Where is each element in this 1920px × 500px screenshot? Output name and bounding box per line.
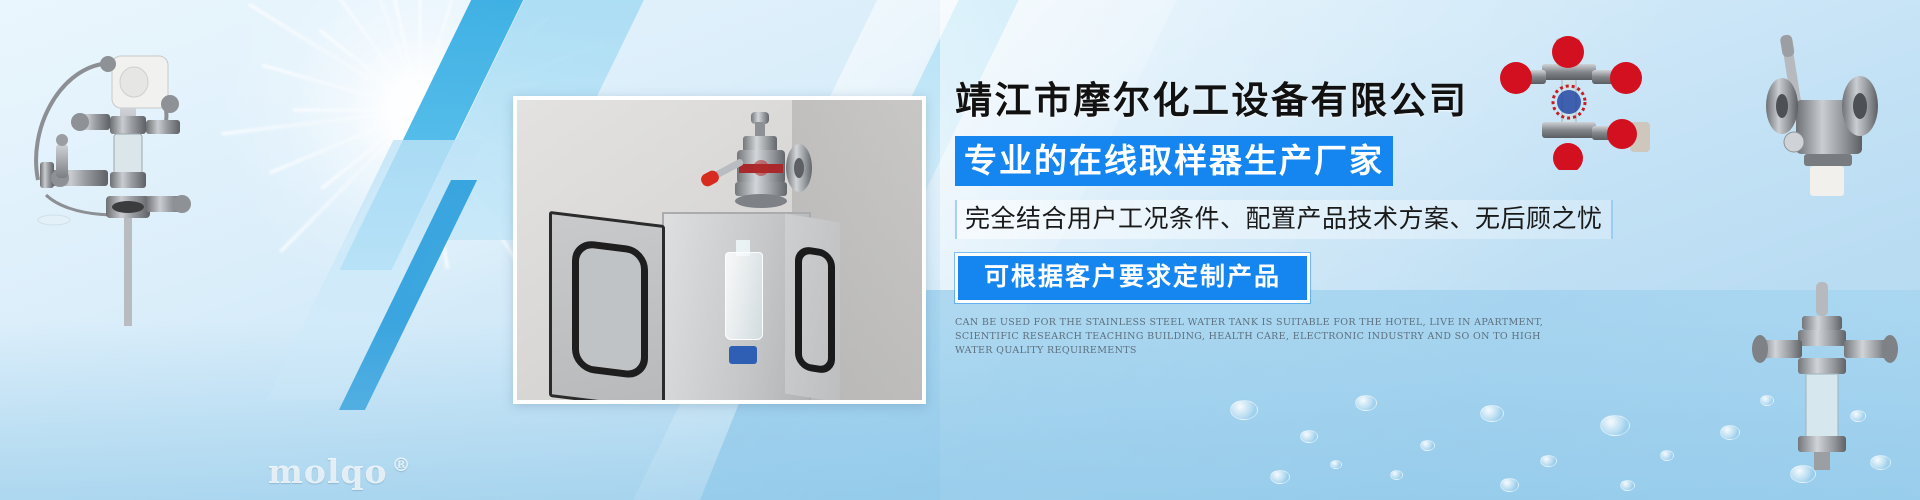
water-droplet-icon xyxy=(1540,455,1557,467)
sun-ray-icon xyxy=(269,109,421,175)
promotional-banner: 靖江市摩尔化工设备有限公司 专业的在线取样器生产厂家 完全结合用户工况条件、配置… xyxy=(0,0,1920,500)
water-droplet-icon xyxy=(1300,430,1318,443)
sun-ray-icon xyxy=(248,3,421,111)
sample-bottle xyxy=(725,252,763,340)
sun-ray-icon xyxy=(262,64,421,112)
sun-ray-icon xyxy=(419,0,524,111)
cabinet-handle xyxy=(795,245,835,375)
sun-ray-icon xyxy=(398,110,422,307)
sun-ray-icon xyxy=(323,0,421,111)
sun-ray-icon xyxy=(419,109,476,222)
right-equipment-image xyxy=(1748,22,1908,212)
cabinet-window xyxy=(572,239,648,380)
water-droplet-icon xyxy=(1230,400,1258,420)
sun-ray-icon xyxy=(221,109,420,136)
water-droplet-icon xyxy=(1355,395,1377,411)
sun-ray-icon xyxy=(319,29,421,111)
sun-ray-icon xyxy=(279,109,421,253)
sun-ray-icon xyxy=(419,0,465,110)
water-droplet-icon xyxy=(1390,470,1403,480)
water-droplet-icon xyxy=(1480,405,1504,422)
water-droplet-icon xyxy=(1600,415,1630,436)
banner-text-block: 靖江市摩尔化工设备有限公司 专业的在线取样器生产厂家 完全结合用户工况条件、配置… xyxy=(955,78,1715,358)
custom-product-cta[interactable]: 可根据客户要求定制产品 xyxy=(955,253,1310,303)
sun-ray-icon xyxy=(293,109,420,112)
left-equipment-image xyxy=(10,20,220,330)
water-droplet-icon xyxy=(1330,460,1342,469)
headline-banner: 专业的在线取样器生产厂家 xyxy=(955,136,1393,186)
sun-ray-icon xyxy=(391,110,422,233)
sun-ray-icon xyxy=(350,0,421,111)
diagonal-stripe-solid xyxy=(339,180,477,410)
bottom-right-equipment-image xyxy=(1740,278,1910,473)
blue-cap xyxy=(729,346,757,364)
english-description: CAN BE USED FOR THE STAINLESS STEEL WATE… xyxy=(955,316,1555,358)
water-droplet-icon xyxy=(1270,470,1290,484)
sun-ray-icon xyxy=(419,110,450,269)
brand-watermark: molqo® xyxy=(268,452,412,491)
water-droplet-icon xyxy=(1420,440,1435,451)
sun-ray-icon xyxy=(341,109,421,253)
water-droplet-icon xyxy=(1660,450,1674,461)
top-valve-assembly xyxy=(699,108,829,220)
sun-ray-icon xyxy=(419,0,422,110)
sun-ray-icon xyxy=(419,109,528,277)
cabinet-door xyxy=(549,211,665,404)
registered-mark-icon: ® xyxy=(392,454,412,476)
water-droplet-icon xyxy=(1500,478,1519,492)
sun-ray-icon xyxy=(419,14,497,110)
watermark-text: molqo xyxy=(268,452,388,491)
diagonal-stripe-pale xyxy=(267,140,484,400)
water-droplet-icon xyxy=(1620,480,1635,491)
sun-ray-icon xyxy=(390,0,422,110)
company-name: 靖江市摩尔化工设备有限公司 xyxy=(955,78,1715,122)
product-photo xyxy=(513,96,926,404)
sun-ray-icon xyxy=(321,109,421,190)
water-droplet-icon xyxy=(1720,425,1740,440)
sub-headline: 完全结合用户工况条件、配置产品技术方案、无后顾之忧 xyxy=(955,200,1613,239)
